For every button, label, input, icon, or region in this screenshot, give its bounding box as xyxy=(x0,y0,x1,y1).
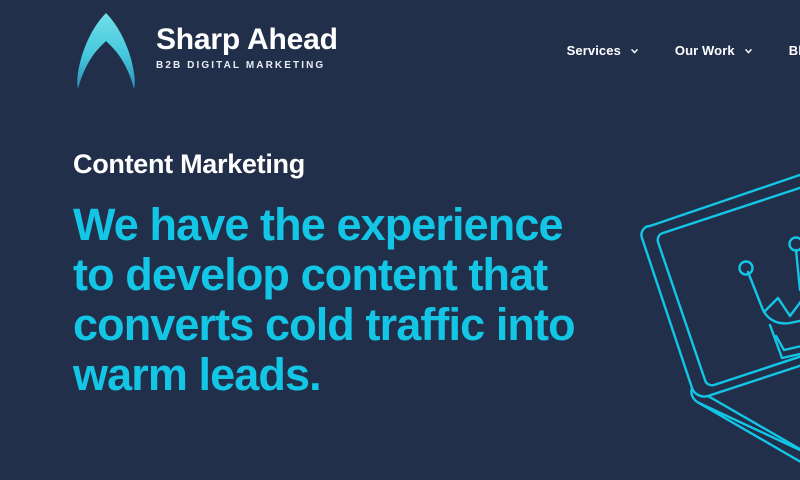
hero-section: Content Marketing We have the experience… xyxy=(0,100,800,480)
headline-line: to develop content that xyxy=(73,250,673,300)
chevron-down-icon[interactable] xyxy=(630,47,639,56)
nav-item-services-label: Services xyxy=(567,43,621,58)
chevron-down-icon[interactable] xyxy=(744,47,753,56)
nav-item-blog[interactable]: Blog xyxy=(789,43,800,58)
headline-line: warm leads. xyxy=(73,350,673,400)
site-header: Sharp Ahead B2B DIGITAL MARKETING Servic… xyxy=(0,0,800,100)
brand-tagline: B2B DIGITAL MARKETING xyxy=(156,60,338,71)
nav-item-our-work-label: Our Work xyxy=(675,43,735,58)
headline-line: converts cold traffic into xyxy=(73,300,673,350)
brand-wordmark: Sharp Ahead B2B DIGITAL MARKETING xyxy=(156,25,338,76)
hero-eyebrow: Content Marketing xyxy=(73,150,800,180)
sharp-ahead-arrow-logo-icon xyxy=(68,11,144,89)
headline-line: We have the experience xyxy=(73,200,673,250)
brand-logo-link[interactable]: Sharp Ahead B2B DIGITAL MARKETING xyxy=(68,11,338,89)
hero-content: Content Marketing We have the experience… xyxy=(0,100,800,399)
nav-item-services[interactable]: Services xyxy=(567,43,639,58)
nav-item-blog-label: Blog xyxy=(789,43,800,58)
brand-name: Sharp Ahead xyxy=(156,25,338,56)
nav-item-our-work[interactable]: Our Work xyxy=(675,43,753,58)
hero-headline: We have the experience to develop conten… xyxy=(73,200,673,400)
main-navigation: Services Our Work Blog xyxy=(567,0,800,100)
